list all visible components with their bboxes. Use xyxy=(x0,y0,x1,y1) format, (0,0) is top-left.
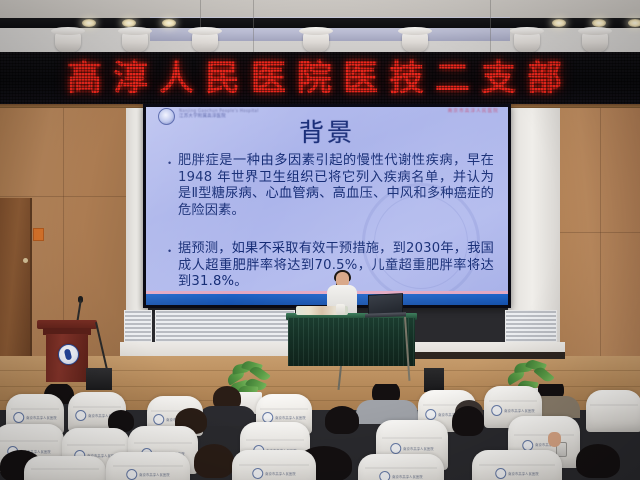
ceiling-speaker xyxy=(582,30,608,52)
ceiling-downlight xyxy=(552,19,566,27)
ceiling-downlight xyxy=(162,19,176,27)
chair-cover-logo-text: 南京市高淳人民医院 xyxy=(504,409,535,413)
hospital-emblem-icon xyxy=(153,414,164,425)
slide-title: 背景 xyxy=(146,119,508,147)
audience-head xyxy=(576,444,620,478)
chair-cover-logo-text: 南京市高淳人民医院 xyxy=(26,416,57,420)
ceiling-downlight xyxy=(122,19,136,27)
hospital-emblem-icon xyxy=(390,443,401,454)
projection-screen: Nanjing Gaochun People's Hospital 江苏大学附属… xyxy=(143,104,511,308)
slide-bullet-text: 肥胖症是一种由多因素引起的慢性代谢性疾病，早在 1948 年世界卫生组织已将它列… xyxy=(178,153,494,219)
audience-chair[interactable]: 南京市高淳人民医院 xyxy=(106,452,190,480)
ceiling xyxy=(0,0,640,58)
audience-seating: 南京市高淳人民医院 南京市高淳人民医院 南京市高淳人民医院 南京市高淳人民医院 xyxy=(0,384,640,480)
hospital-emblem-icon xyxy=(126,469,137,480)
chair-cover-logo-text: 南京市高淳人民医院 xyxy=(275,416,306,420)
chair-cover-logo: 南京市高淳人民医院 xyxy=(379,471,423,480)
presenter-table-skirt xyxy=(288,318,415,366)
hospital-emblem-icon xyxy=(495,468,506,479)
chair-cover-logo: 南京市高淳人民医院 xyxy=(13,412,57,423)
slide-bullet-item: • 肥胖症是一种由多因素引起的慢性代谢性疾病，早在 1948 年世界卫生组织已将… xyxy=(168,153,494,219)
audience-face xyxy=(548,432,561,447)
chair-cover-logo: 南京市高淳人民医院 xyxy=(491,405,535,416)
presentation-slide: Nanjing Gaochun People's Hospital 江苏大学附属… xyxy=(146,107,508,305)
ceiling-speaker xyxy=(402,30,428,52)
audience-head xyxy=(325,406,359,434)
hospital-emblem-icon xyxy=(425,409,436,420)
audience-chair[interactable]: 南京市高淳人民医院 xyxy=(358,454,444,480)
led-scrolling-banner: 高淳人民医院医技二支部 xyxy=(0,52,640,106)
wood-seam xyxy=(0,196,128,197)
audience-chair[interactable] xyxy=(586,390,640,432)
wall-control-plate[interactable] xyxy=(33,228,44,241)
wood-seam xyxy=(560,232,640,233)
hospital-emblem-icon xyxy=(491,405,502,416)
slide-bullet-item: • 据预测，如果不采取有效干预措施，到2030年，我国成人超重肥胖率将达到70.… xyxy=(168,241,494,291)
wall-air-vent xyxy=(505,310,557,342)
side-door[interactable] xyxy=(0,198,32,360)
audience-head xyxy=(194,444,234,478)
bullet-marker-icon: • xyxy=(168,247,178,256)
slide-header-right-text: 南京市高淳人民医院 xyxy=(448,108,499,115)
hospital-emblem-icon xyxy=(252,468,263,479)
wood-seam xyxy=(600,108,601,358)
ceiling-speaker xyxy=(192,30,218,52)
chair-cover-logo-text: 南京市高淳人民医院 xyxy=(508,472,539,476)
ceiling-downlight xyxy=(82,19,96,27)
ceiling-downlight xyxy=(628,19,640,27)
hospital-emblem-icon xyxy=(13,412,24,423)
chair-cover-logo-text: 南京市高淳人民医院 xyxy=(265,472,296,476)
ceiling-speaker xyxy=(303,30,329,52)
chair-cover-logo: 南京市高淳人民医院 xyxy=(390,443,434,454)
ceiling-seam xyxy=(490,0,491,58)
podium-body xyxy=(46,334,88,382)
chair-cover-logo-text: 南京市高淳人民医院 xyxy=(392,475,423,479)
audience-head xyxy=(452,406,484,436)
chair-cover-logo: 南京市高淳人民医院 xyxy=(252,468,296,479)
door-handle[interactable] xyxy=(23,258,28,263)
ceiling-speaker xyxy=(55,30,81,52)
chair-cover-logo-text: 南京市高淳人民医院 xyxy=(403,447,434,451)
audience-chair[interactable]: 南京市高淳人民医院 xyxy=(232,450,316,480)
bullet-marker-icon: • xyxy=(168,159,178,168)
ceiling-speaker xyxy=(514,30,540,52)
wall-air-vent xyxy=(155,310,295,342)
audience-chair[interactable] xyxy=(24,456,106,480)
audience-chair[interactable]: 南京市高淳人民医院 xyxy=(472,450,562,480)
slide-body: • 肥胖症是一种由多因素引起的慢性代谢性疾病，早在 1948 年世界卫生组织已将… xyxy=(168,153,494,305)
hospital-emblem-icon xyxy=(75,410,86,421)
wall-air-vent xyxy=(124,310,152,342)
chair-cover-logo: 南京市高淳人民医院 xyxy=(495,468,539,479)
hospital-emblem-icon xyxy=(379,471,390,480)
chair-cover-logo: 南京市高淳人民医院 xyxy=(126,469,170,480)
ceiling-downlight xyxy=(592,19,606,27)
hospital-emblem-icon xyxy=(58,344,79,365)
ceiling-speaker xyxy=(122,30,148,52)
chair-cover-logo-text: 南京市高淳人民医院 xyxy=(139,473,170,477)
desk-cup xyxy=(336,304,345,315)
ceiling-seam xyxy=(253,0,254,58)
led-banner-text: 高淳人民医院医技二支部 xyxy=(0,59,640,99)
lecture-hall-photo: 高淳人民医院医技二支部 Nanjing Gaochun People's Hos… xyxy=(0,0,640,480)
